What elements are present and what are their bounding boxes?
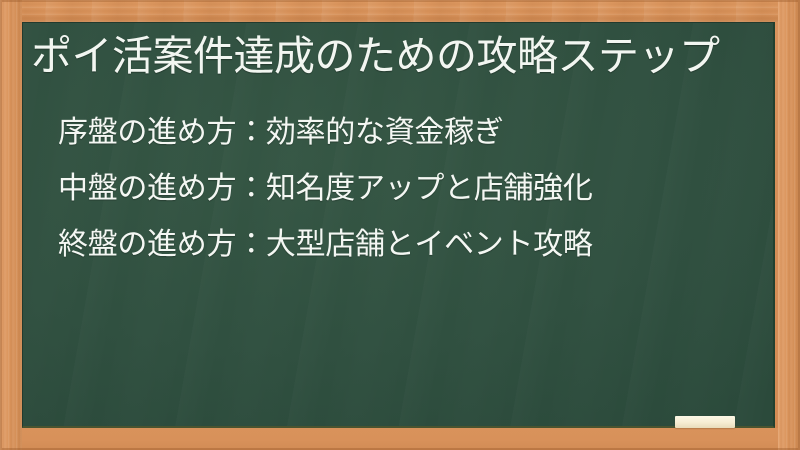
frame-rail-right bbox=[778, 0, 800, 450]
frame-rail-left bbox=[0, 0, 22, 450]
slide-title: ポイ活案件達成のための攻略ステップ bbox=[31, 33, 751, 80]
slide-canvas: ポイ活案件達成のための攻略ステップ 序盤の進め方：効率的な資金稼ぎ 中盤の進め方… bbox=[0, 0, 800, 450]
frame-rail-bottom-ledge bbox=[0, 428, 800, 450]
step-list: 序盤の進め方：効率的な資金稼ぎ 中盤の進め方：知名度アップと店舗強化 終盤の進め… bbox=[58, 105, 758, 273]
chalk-stick bbox=[675, 416, 735, 428]
chalkboard: ポイ活案件達成のための攻略ステップ 序盤の進め方：効率的な資金稼ぎ 中盤の進め方… bbox=[22, 22, 775, 428]
frame-rail-top bbox=[0, 0, 800, 22]
step-item-early: 序盤の進め方：効率的な資金稼ぎ bbox=[58, 105, 758, 161]
step-item-late: 終盤の進め方：大型店舗とイベント攻略 bbox=[58, 217, 758, 273]
step-item-mid: 中盤の進め方：知名度アップと店舗強化 bbox=[58, 161, 758, 217]
